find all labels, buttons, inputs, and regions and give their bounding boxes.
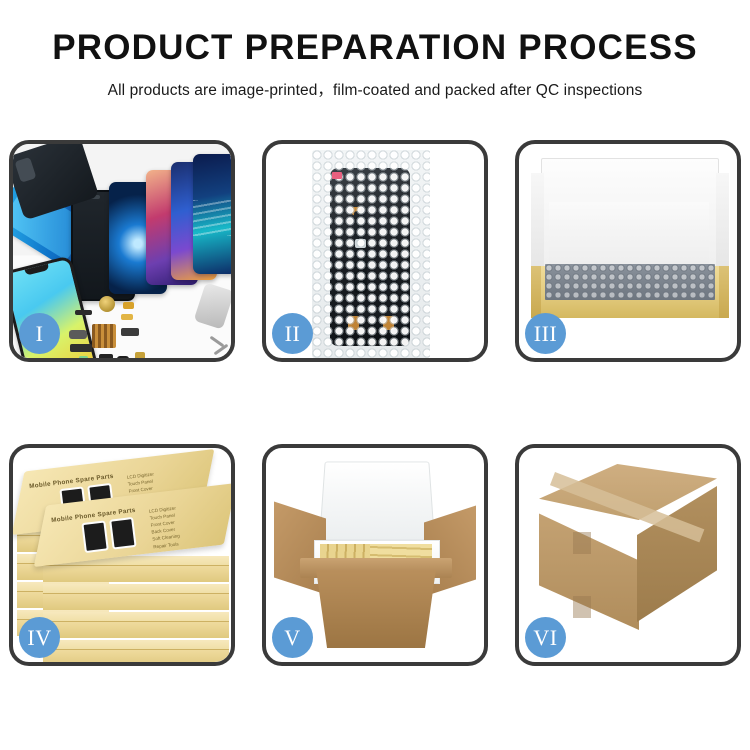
panel-step-4: Mobile Phone Spare Parts LCD Digitizer T… bbox=[9, 444, 235, 666]
antenna-strip-icon bbox=[121, 328, 139, 336]
gold-box-front bbox=[43, 640, 229, 662]
badge-step-5: V bbox=[272, 617, 313, 658]
badge-step-4: IV bbox=[19, 617, 60, 658]
header: PRODUCT PREPARATION PROCESS All products… bbox=[0, 0, 750, 100]
page-subtitle: All products are image-printed，film-coat… bbox=[0, 78, 750, 100]
flex-cable-icon bbox=[69, 330, 87, 339]
camera-module-icon bbox=[99, 354, 113, 358]
badge-step-3: III bbox=[525, 313, 566, 354]
grey-bubble-wrapped-contents bbox=[545, 264, 715, 300]
badge-step-6: VI bbox=[525, 617, 566, 658]
panel-step-6: VI bbox=[515, 444, 741, 666]
pink-label-sticker bbox=[332, 172, 342, 179]
spare-part-icon bbox=[75, 310, 92, 315]
screen-thumbnail-icon bbox=[109, 517, 136, 550]
bubble-texture bbox=[312, 150, 430, 358]
white-foam-sheet bbox=[549, 202, 709, 270]
teal-stripe-screen-icon bbox=[193, 154, 231, 274]
carton-seal-lower bbox=[573, 596, 591, 618]
carton-body bbox=[308, 570, 444, 648]
panel-step-2: II bbox=[262, 140, 488, 362]
screen-thumbnail-icon bbox=[81, 520, 108, 553]
panel-step-5: V bbox=[262, 444, 488, 666]
panel-step-3: III bbox=[515, 140, 741, 362]
foam-lid bbox=[319, 462, 435, 541]
speaker-coil-icon bbox=[99, 296, 115, 312]
page-title: PRODUCT PREPARATION PROCESS bbox=[0, 30, 750, 67]
battery-icon bbox=[79, 356, 88, 358]
box-product-thumbnails bbox=[81, 517, 136, 553]
gold-box-front bbox=[43, 584, 229, 610]
vibrator-icon bbox=[117, 356, 129, 358]
gold-connector-icon bbox=[123, 302, 134, 309]
panel-step-1: I bbox=[9, 140, 235, 362]
box-checklist: LCD Digitizer Touch Panel Front Cover Ba… bbox=[149, 504, 182, 550]
product-preparation-infographic: PRODUCT PREPARATION PROCESS All products… bbox=[0, 0, 750, 750]
gold-flex-icon bbox=[121, 314, 133, 320]
screw-grid-icon bbox=[92, 324, 116, 348]
ribbon-cable-icon bbox=[70, 344, 92, 352]
badge-step-2: II bbox=[272, 313, 313, 354]
badge-step-1: I bbox=[19, 313, 60, 354]
carton-seal-upper bbox=[573, 532, 591, 554]
bubble-wrap-bag bbox=[312, 150, 430, 358]
steps-grid: I II bbox=[9, 140, 741, 666]
sim-tray-icon bbox=[135, 352, 145, 358]
gold-box-front bbox=[43, 612, 229, 638]
